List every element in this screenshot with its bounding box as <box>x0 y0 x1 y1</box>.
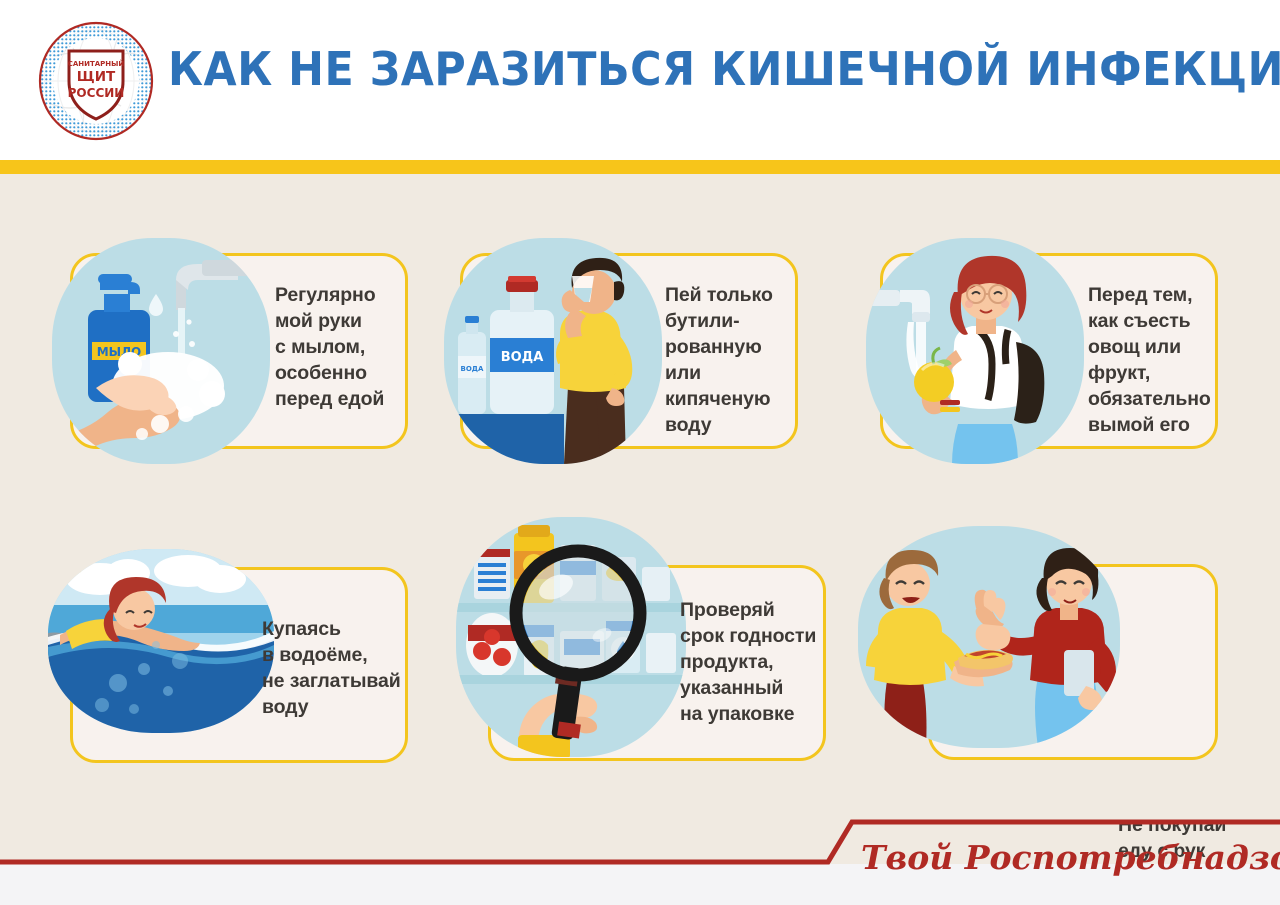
cards-area: МЫЛО <box>0 174 1280 864</box>
infographic-poster: САНИТАРНЫЙ ЩИТ РОССИИ КАК НЕ ЗАРАЗИТЬСЯ … <box>0 0 1280 905</box>
small-bottle-label: ВОДА <box>461 365 485 373</box>
logo-line-3: РОССИИ <box>68 86 125 100</box>
refusing-hotdog-from-street-vendor-illustration <box>858 526 1120 748</box>
header-divider-band <box>0 160 1280 174</box>
soap-bottle-and-washing-hands-illustration: МЫЛО <box>52 238 270 464</box>
girl-washing-fruit-under-tap-illustration <box>866 238 1084 464</box>
card-text: Пей только бутили- рованную или кипячену… <box>665 283 810 439</box>
logo-line-1: САНИТАРНЫЙ <box>68 59 125 68</box>
logo-line-2: ЩИТ <box>77 69 116 85</box>
woman-swimming-in-open-water-illustration <box>48 549 274 733</box>
poster-header: САНИТАРНЫЙ ЩИТ РОССИИ КАК НЕ ЗАРАЗИТЬСЯ … <box>0 0 1280 160</box>
card-text: Купаясь в водоёме, не заглатывай воду <box>262 617 412 721</box>
page-title: КАК НЕ ЗАРАЗИТЬСЯ КИШЕЧНОЙ ИНФЕКЦИЕЙ <box>168 46 1182 92</box>
magnifying-glass-over-grocery-shelf-illustration <box>456 517 686 757</box>
man-drinking-bottled-water-illustration: ВОДА ВОДА <box>444 238 662 464</box>
footer-brand: Твой Роспотребнадзор <box>861 838 1280 877</box>
big-bottle-label: ВОДА <box>501 350 544 365</box>
card-text: Перед тем, как съесть овощ или фрукт, об… <box>1088 283 1238 439</box>
card-text: Проверяй срок годности продукта, указанн… <box>680 598 830 728</box>
sanitary-shield-of-russia-emblem: САНИТАРНЫЙ ЩИТ РОССИИ <box>33 18 159 144</box>
card-text: Регулярно мой руки с мылом, особенно пер… <box>275 283 405 413</box>
